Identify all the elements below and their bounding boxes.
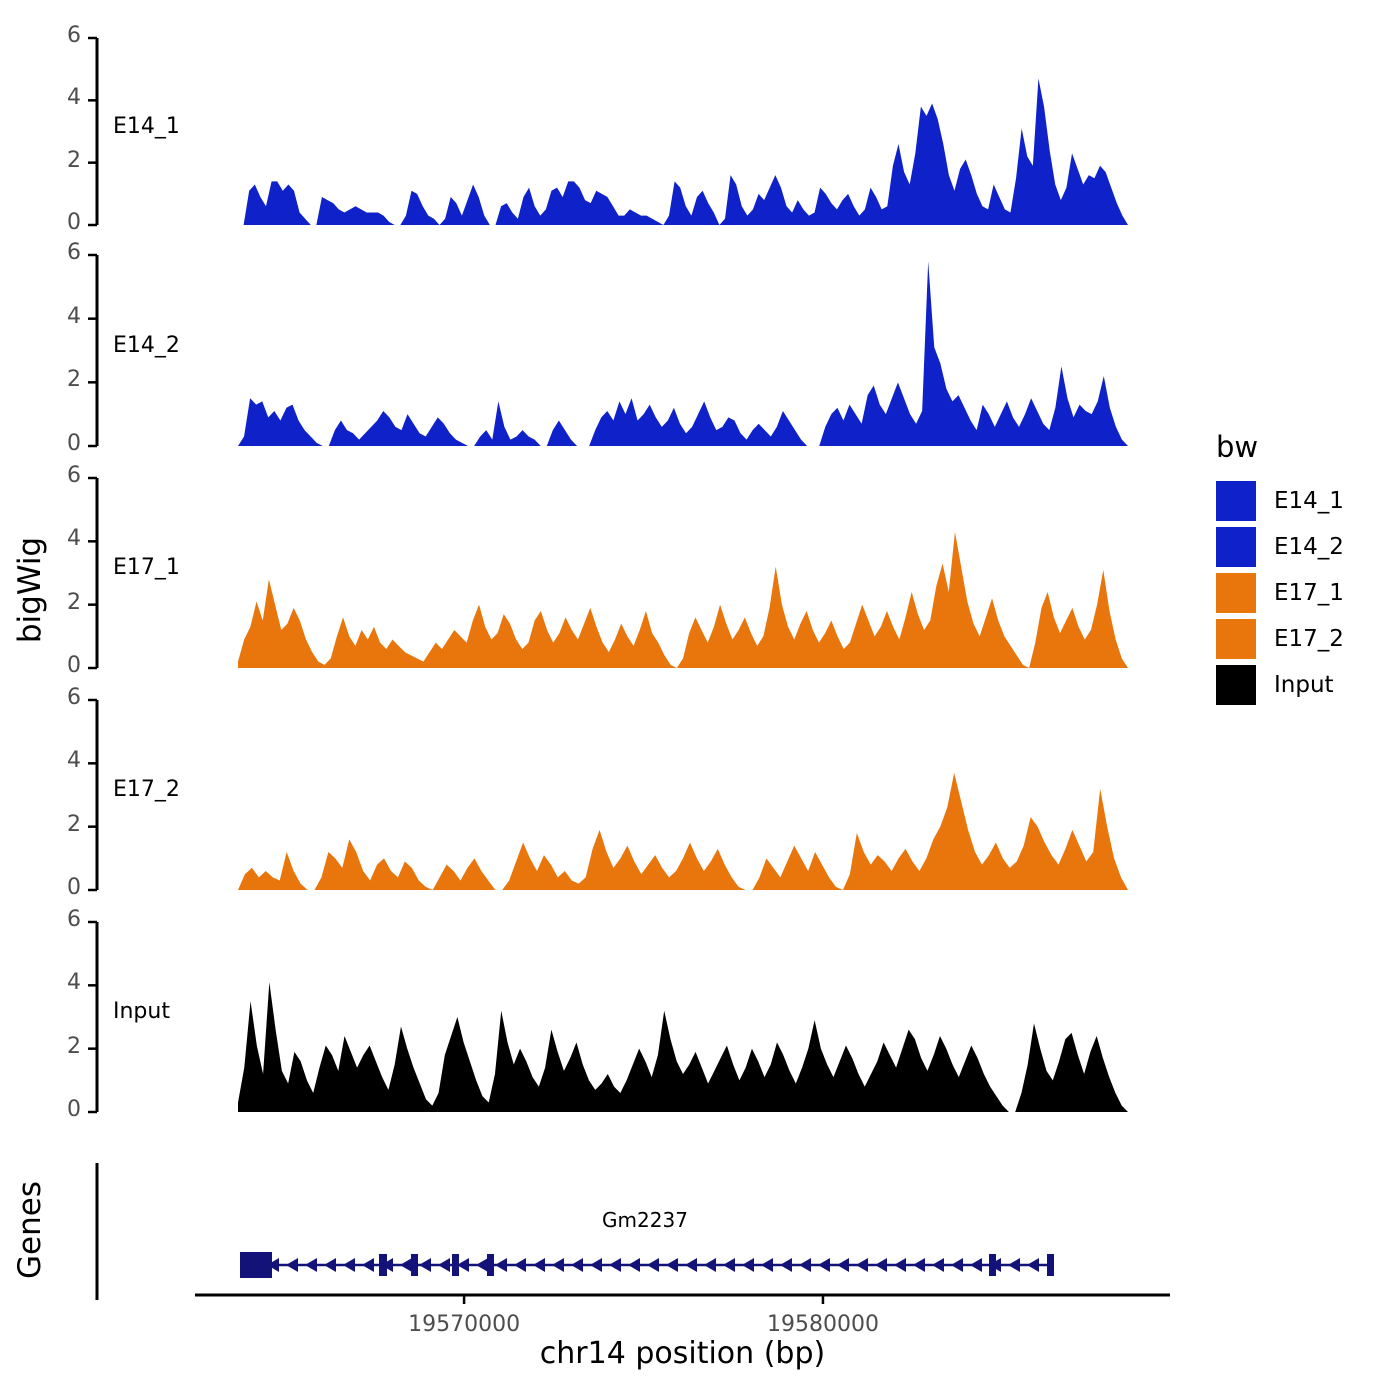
track-panel-e14_2: 0246E14_2	[0, 241, 1200, 460]
legend-item-e14_1[interactable]: E14_1	[1216, 478, 1396, 524]
legend-label: Input	[1274, 672, 1334, 698]
strand-arrow-icon	[704, 1258, 716, 1272]
strand-arrow-icon	[666, 1258, 678, 1272]
legend: bw E14_1E14_2E17_1E17_2Input	[1216, 430, 1396, 708]
strand-arrow-icon	[438, 1258, 450, 1272]
strand-arrow-icon	[970, 1258, 982, 1272]
strand-arrow-icon	[305, 1258, 317, 1272]
x-tick-label: 19570000	[408, 1312, 520, 1337]
strand-arrow-icon	[419, 1258, 431, 1272]
strand-arrow-icon	[533, 1258, 545, 1272]
track-label-input: Input	[113, 999, 170, 1024]
coverage-area-e17_2	[238, 700, 1128, 890]
strand-arrow-icon	[742, 1258, 754, 1272]
coverage-area-input	[238, 922, 1128, 1112]
strand-arrow-icon	[362, 1258, 374, 1272]
strand-arrow-icon	[400, 1258, 412, 1272]
coverage-area-e14_1	[238, 38, 1128, 225]
strand-arrow-icon	[514, 1258, 526, 1272]
legend-item-e17_2[interactable]: E17_2	[1216, 616, 1396, 662]
track-label-e14_1: E14_1	[113, 114, 180, 139]
legend-item-input[interactable]: Input	[1216, 662, 1396, 708]
strand-arrow-icon	[685, 1258, 697, 1272]
track-panel-input: 0246Input	[0, 908, 1200, 1126]
strand-arrow-icon	[552, 1258, 564, 1272]
legend-swatch-e17_1	[1216, 573, 1256, 613]
strand-arrow-icon	[571, 1258, 583, 1272]
gene-exon	[240, 1252, 272, 1278]
strand-arrow-icon	[343, 1258, 355, 1272]
strand-arrow-icon	[856, 1258, 868, 1272]
legend-title: bw	[1216, 430, 1396, 464]
strand-arrow-icon	[476, 1258, 488, 1272]
strand-arrow-icon	[913, 1258, 925, 1272]
strand-arrow-icon	[324, 1258, 336, 1272]
coverage-area-e17_1	[238, 478, 1128, 668]
x-tick-label: 19580000	[767, 1312, 879, 1337]
strand-arrow-icon	[799, 1258, 811, 1272]
strand-arrow-icon	[875, 1258, 887, 1272]
strand-arrow-icon	[495, 1258, 507, 1272]
gene-exon	[487, 1254, 494, 1276]
legend-item-e14_2[interactable]: E14_2	[1216, 524, 1396, 570]
legend-label: E17_1	[1274, 580, 1344, 606]
legend-swatch-input	[1216, 665, 1256, 705]
strand-arrow-icon	[723, 1258, 735, 1272]
legend-swatch-e17_2	[1216, 619, 1256, 659]
strand-arrow-icon	[837, 1258, 849, 1272]
strand-arrow-icon	[818, 1258, 830, 1272]
track-label-e14_2: E14_2	[113, 333, 180, 358]
gene-exon	[379, 1254, 387, 1276]
track-panel-e14_1: 0246E14_1	[0, 24, 1200, 239]
strand-arrow-icon	[1027, 1258, 1039, 1272]
strand-arrow-icon	[647, 1258, 659, 1272]
strand-arrow-icon	[780, 1258, 792, 1272]
strand-arrow-icon	[1008, 1258, 1020, 1272]
track-label-e17_2: E17_2	[113, 777, 180, 802]
strand-arrow-icon	[932, 1258, 944, 1272]
gene-name-label: Gm2237	[602, 1208, 688, 1232]
legend-label: E14_2	[1274, 534, 1344, 560]
track-label-e17_1: E17_1	[113, 555, 180, 580]
track-panel-e17_1: 0246E17_1	[0, 464, 1200, 682]
x-axis-line	[0, 1290, 1400, 1320]
gene-exon	[452, 1254, 459, 1276]
legend-label: E17_2	[1274, 626, 1344, 652]
strand-arrow-icon	[761, 1258, 773, 1272]
legend-swatch-e14_2	[1216, 527, 1256, 567]
coverage-area-e14_2	[238, 255, 1128, 446]
strand-arrow-icon	[894, 1258, 906, 1272]
gene-exon	[411, 1254, 418, 1276]
x-axis-title: chr14 position (bp)	[195, 1336, 1170, 1371]
legend-item-e17_1[interactable]: E17_1	[1216, 570, 1396, 616]
legend-items: E14_1E14_2E17_1E17_2Input	[1216, 478, 1396, 708]
strand-arrow-icon	[628, 1258, 640, 1272]
legend-label: E14_1	[1274, 488, 1344, 514]
strand-arrow-icon	[951, 1258, 963, 1272]
strand-arrow-icon	[286, 1258, 298, 1272]
strand-arrow-icon	[609, 1258, 621, 1272]
track-panel-e17_2: 0246E17_2	[0, 686, 1200, 904]
legend-swatch-e14_1	[1216, 481, 1256, 521]
strand-arrow-icon	[590, 1258, 602, 1272]
gene-exon	[989, 1254, 996, 1276]
